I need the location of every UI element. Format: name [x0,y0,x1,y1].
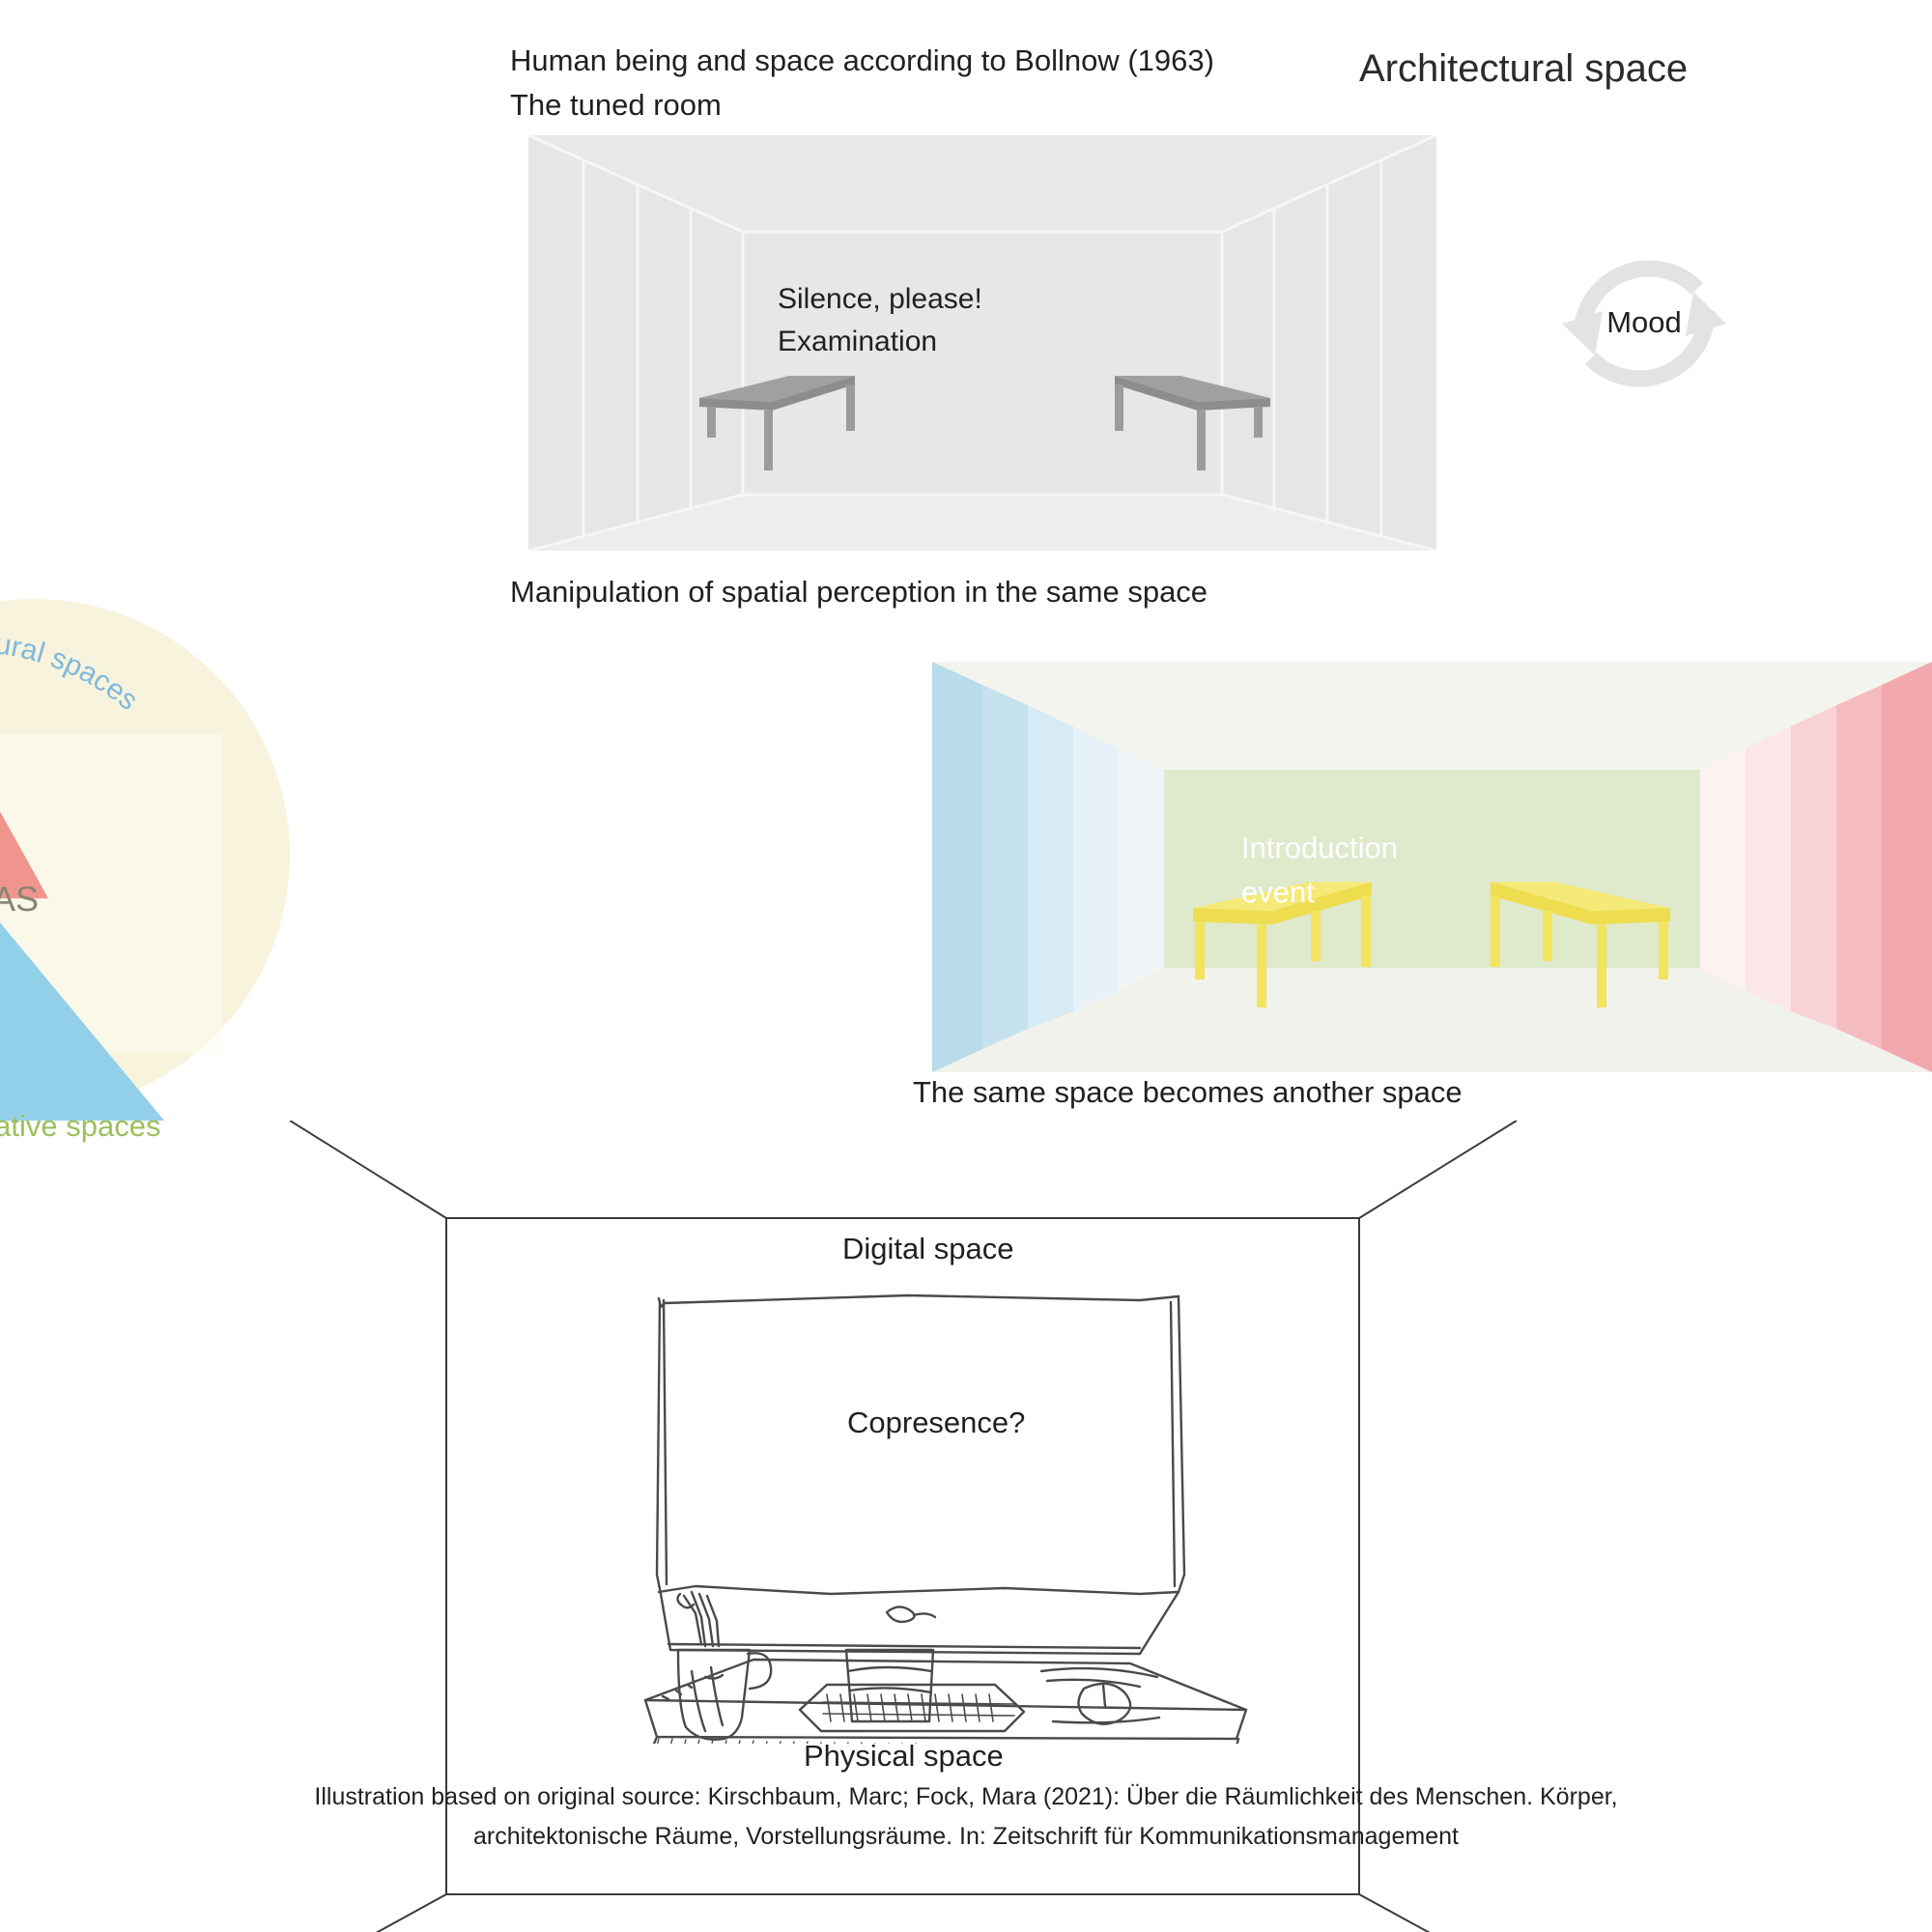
digital-space-label: Digital space [842,1232,1013,1266]
workstation-sketch [638,1285,1256,1744]
colored-room-caption: The same space becomes another space [913,1075,1463,1110]
page-title: Architectural space [1359,47,1688,91]
colored-room-wall-text: Introduction event [1241,826,1398,915]
copresence-screen-text: Copresence? [847,1406,1025,1440]
as-abbreviation: AS [0,879,39,920]
mood-label: Mood [1552,305,1736,340]
source-line-1: Illustration based on original source: K… [0,1777,1932,1817]
diagram-canvas: Human being and space according to Bolln… [0,0,1932,1932]
source-caption: Illustration based on original source: K… [0,1777,1932,1857]
tuned-room-wall-text: Silence, please! Examination [778,278,982,363]
physical-space-label: Physical space [804,1739,1004,1774]
tuned-room-illustration [528,135,1436,551]
spaces-circle-diagram: Architectural spaces [0,580,309,1130]
colored-room-illustration [932,662,1932,1072]
imaginative-spaces-label: inative spaces [0,1109,160,1144]
mood-block: Mood [1552,232,1736,415]
source-line-2: architektonische Räume, Vorstellungsräum… [0,1817,1932,1857]
tuned-room-caption: Manipulation of spatial perception in th… [510,575,1207,610]
bollnow-heading: Human being and space according to Bolln… [510,39,1214,128]
